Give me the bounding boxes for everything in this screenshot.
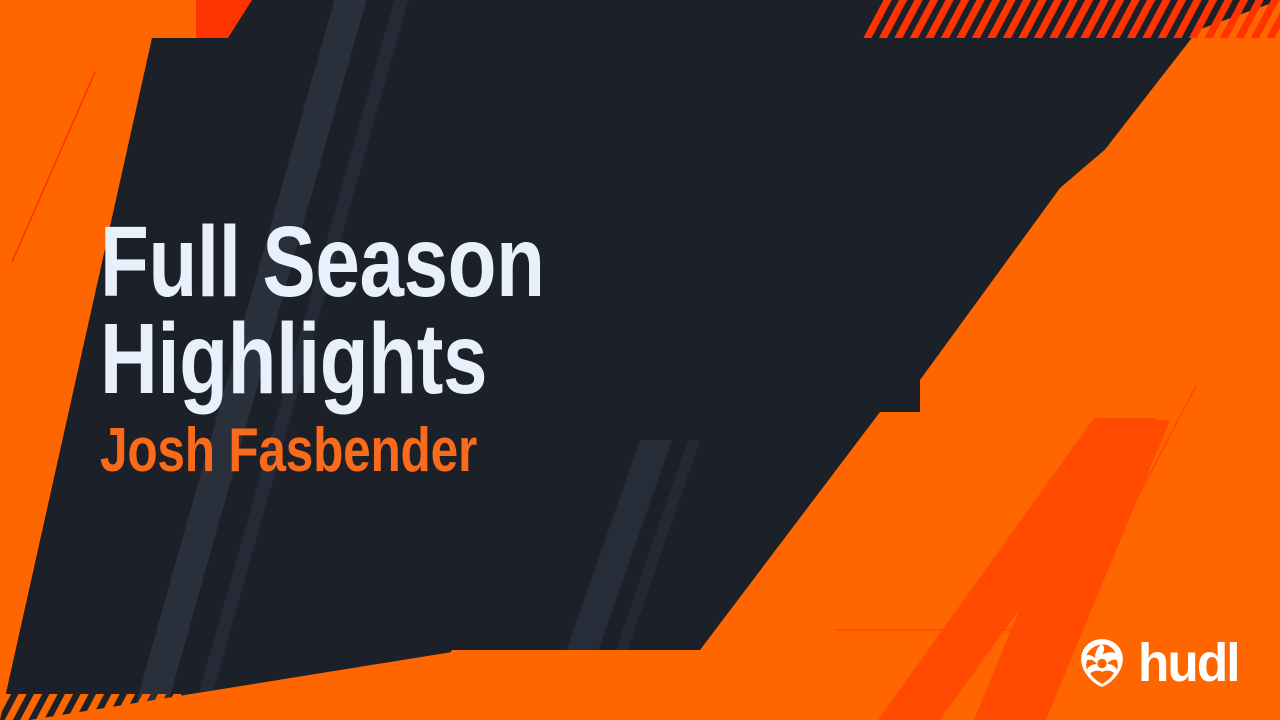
title-block: Full Season Highlights Josh Fasbender — [100, 214, 860, 482]
player-name-subtitle: Josh Fasbender — [100, 420, 708, 482]
title-line-2: Highlights — [100, 311, 708, 408]
hudl-shield-icon — [1076, 637, 1128, 689]
hudl-wordmark: hudl — [1138, 636, 1239, 690]
hudl-logo: hudl — [1076, 636, 1244, 690]
highlight-title-card: Full Season Highlights Josh Fasbender hu… — [0, 0, 1280, 720]
title-line-1: Full Season — [100, 214, 708, 311]
